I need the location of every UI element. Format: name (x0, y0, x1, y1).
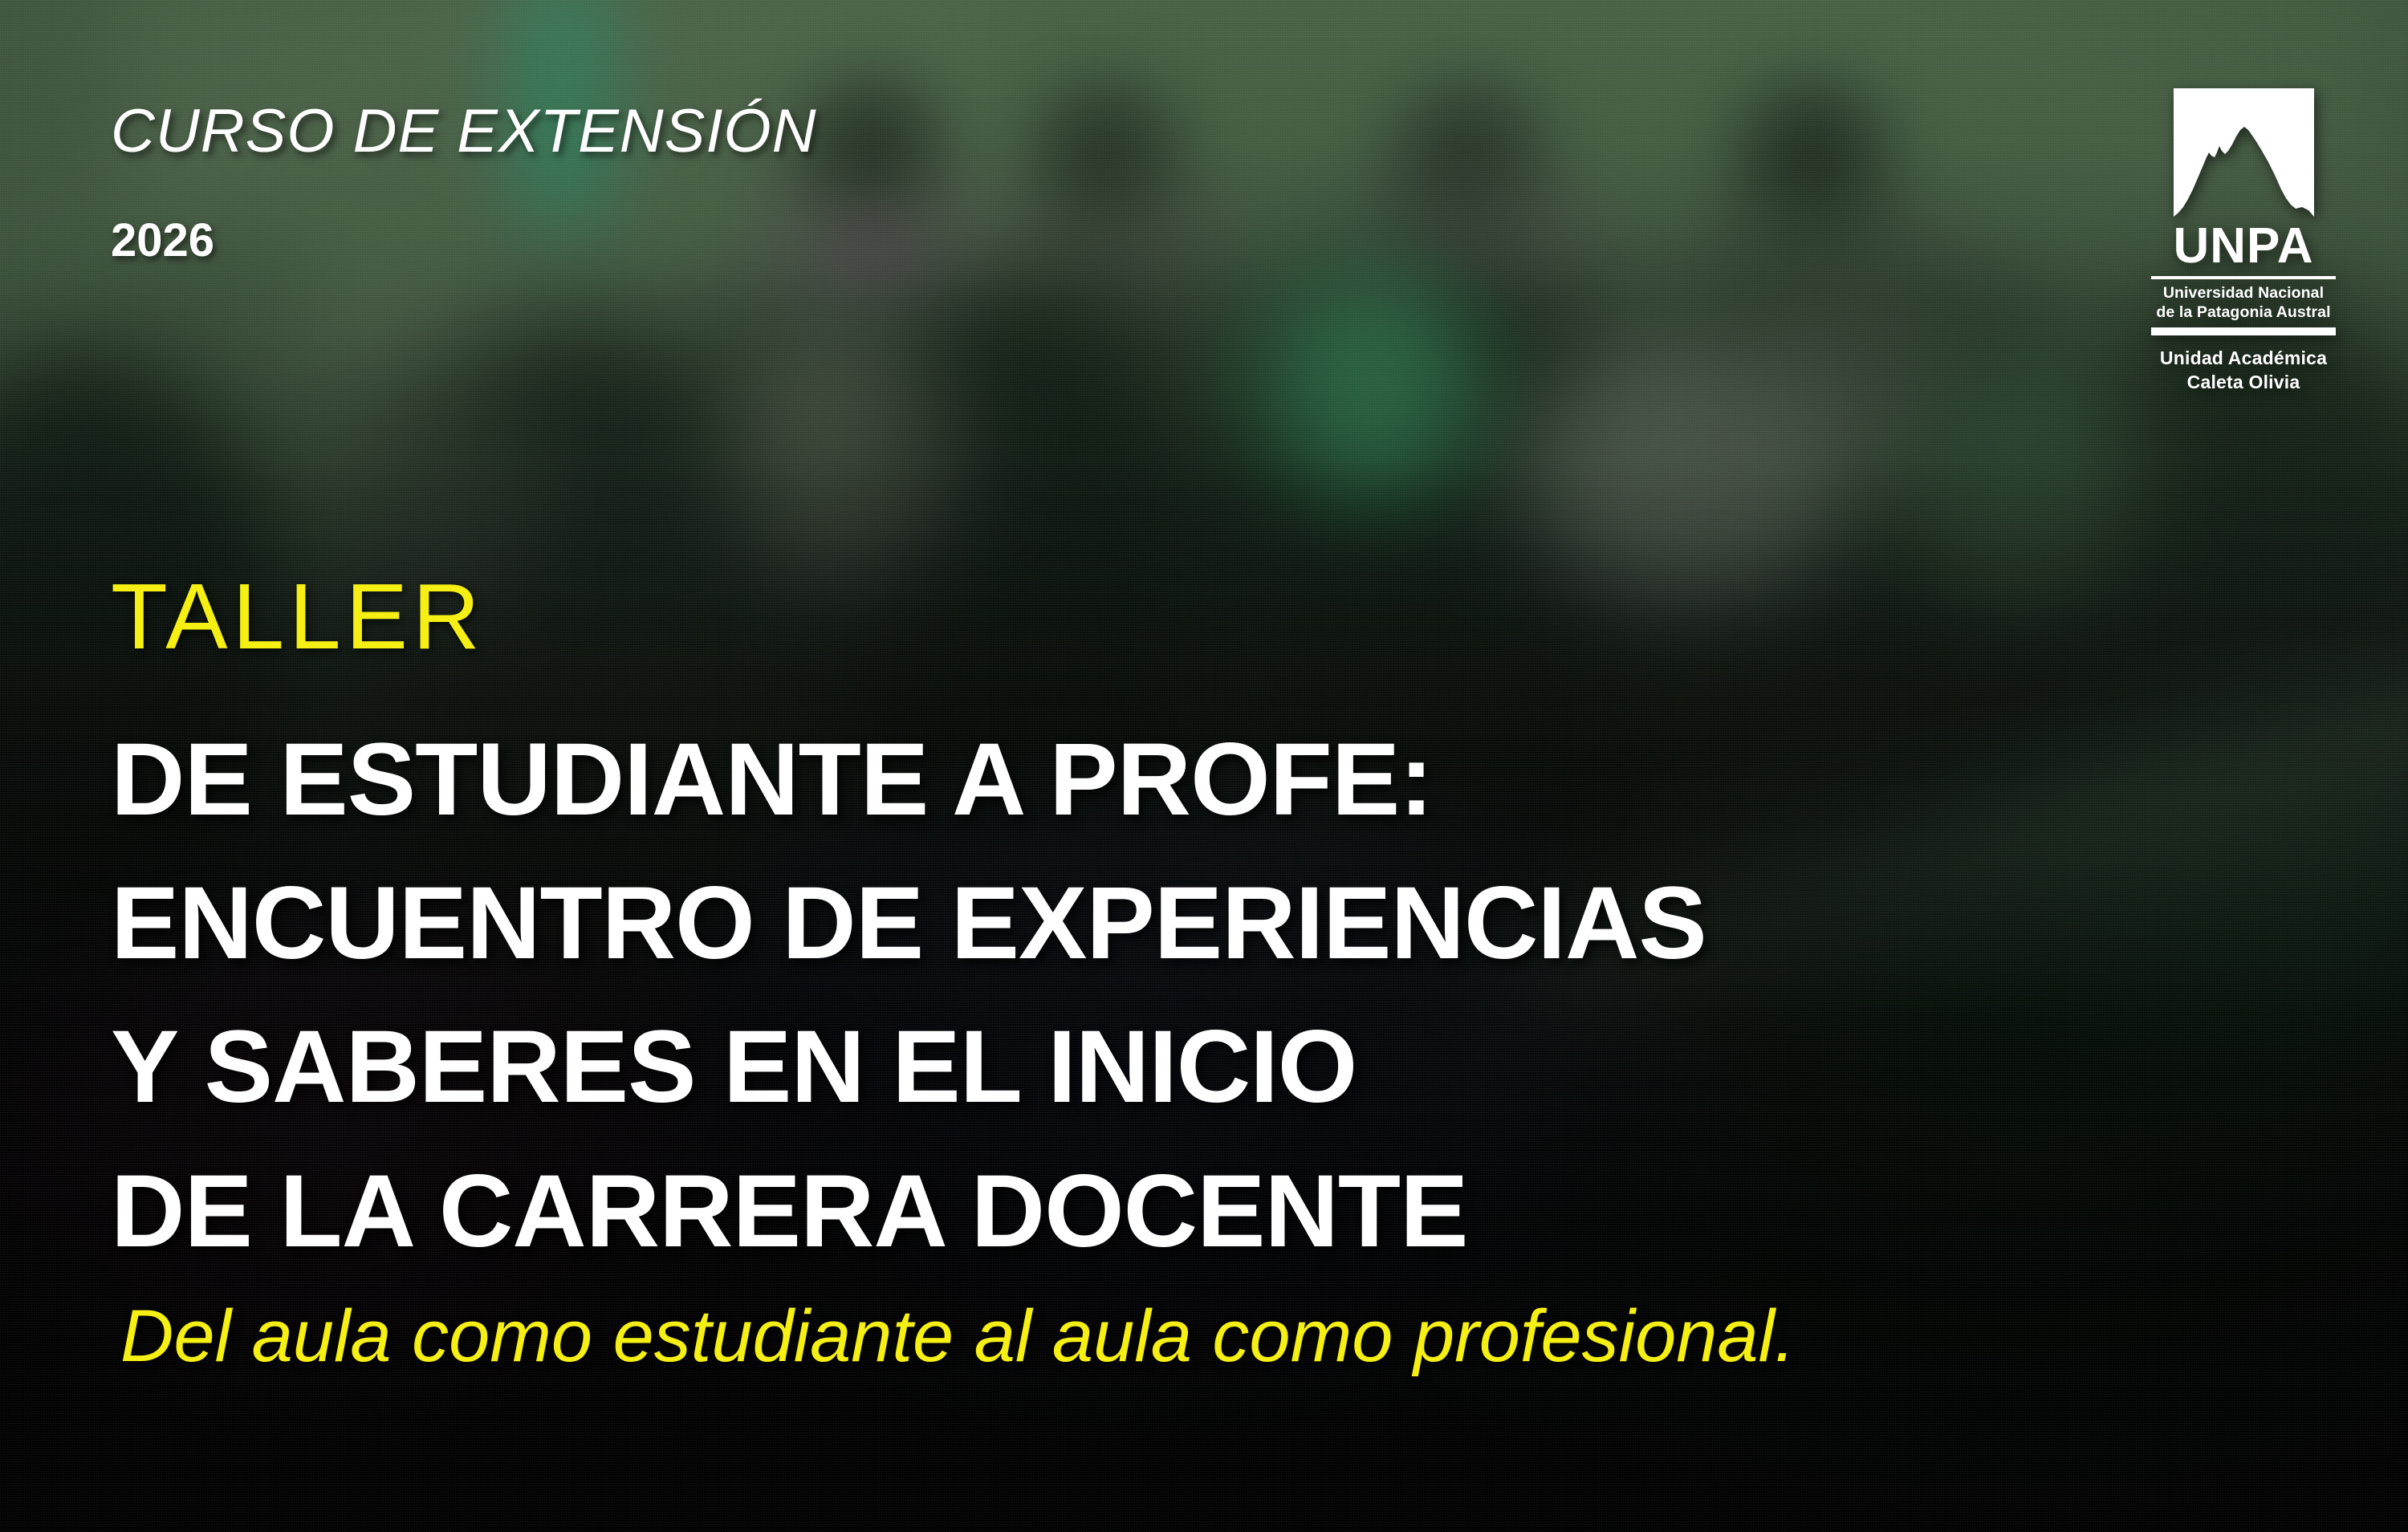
course-year: 2026 (111, 213, 214, 267)
event-title: DE ESTUDIANTE A PROFE: ENCUENTRO DE EXPE… (111, 708, 2117, 1283)
unpa-academic-unit: Unidad Académica Caleta Olivia (2151, 347, 2336, 395)
event-subtitle: Del aula como estudiante al aula como pr… (120, 1294, 1796, 1379)
logo-divider-top (2151, 276, 2336, 279)
event-title-line-4: DE LA CARRERA DOCENTE (111, 1140, 2117, 1283)
unpa-logo: UNPA Universidad Nacional de la Patagoni… (2151, 88, 2336, 395)
unpa-name-line-1: Universidad Nacional (2151, 284, 2336, 303)
event-title-line-1: DE ESTUDIANTE A PROFE: (111, 708, 2117, 851)
event-title-line-2: ENCUENTRO DE EXPERIENCIAS (111, 851, 2117, 995)
unpa-full-name: Universidad Nacional de la Patagonia Aus… (2151, 284, 2336, 323)
unpa-acronym: UNPA (2151, 223, 2336, 270)
poster-canvas: CURSO DE EXTENSIÓN 2026 TALLER DE ESTUDI… (0, 0, 2408, 1532)
unpa-unit-line-2: Caleta Olivia (2151, 371, 2336, 395)
unpa-mountain-icon (2174, 88, 2314, 217)
event-type-label: TALLER (111, 570, 485, 663)
logo-divider-bottom (2151, 327, 2336, 335)
unpa-unit-line-1: Unidad Académica (2151, 347, 2336, 371)
course-kicker: CURSO DE EXTENSIÓN (111, 96, 816, 166)
unpa-name-line-2: de la Patagonia Austral (2151, 303, 2336, 323)
event-title-line-3: Y SABERES EN EL INICIO (111, 995, 2117, 1139)
